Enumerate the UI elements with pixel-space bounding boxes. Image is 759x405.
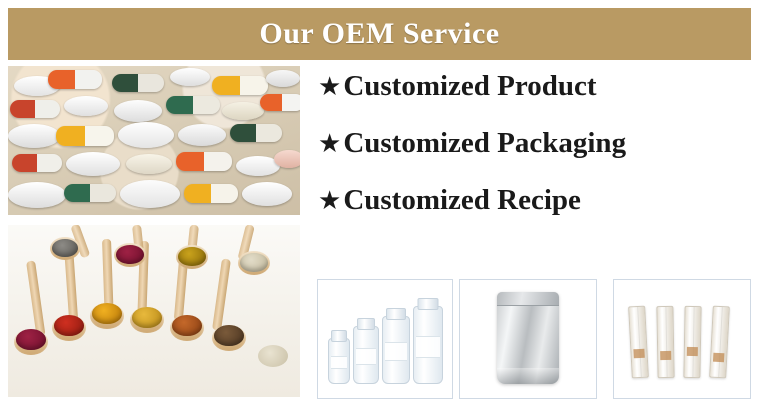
star-icon: ★ (318, 131, 341, 157)
foil-pouch-art (497, 292, 559, 384)
star-icon: ★ (318, 74, 341, 100)
list-item-label: Customized Recipe (343, 184, 581, 217)
header-banner: Our OEM Service (8, 8, 751, 60)
page-title: Our OEM Service (259, 17, 499, 51)
list-item-label: Customized Product (343, 70, 596, 103)
list-item: ★ Customized Recipe (318, 184, 748, 217)
feature-list: ★ Customized Product ★ Customized Packag… (318, 70, 748, 241)
spoons-photo (8, 225, 300, 397)
pills-photo-art (8, 66, 300, 215)
pouch-thumbnail (459, 279, 597, 399)
spoons-photo-art (8, 225, 300, 397)
bottles-thumbnail (317, 279, 453, 399)
pills-photo (8, 66, 300, 215)
list-item: ★ Customized Product (318, 70, 748, 103)
star-icon: ★ (318, 188, 341, 214)
list-item: ★ Customized Packaging (318, 127, 748, 160)
list-item-label: Customized Packaging (343, 127, 626, 160)
sachets-thumbnail (613, 279, 751, 399)
